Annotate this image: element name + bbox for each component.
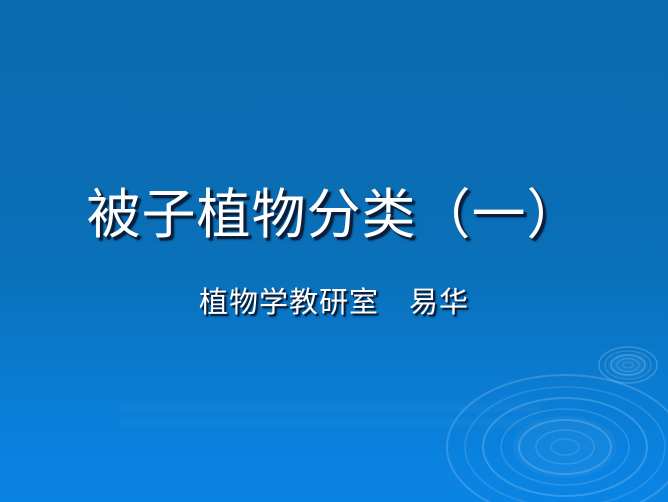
slide-title: 被子植物分类（一） [0,184,668,246]
presentation-slide: 被子植物分类（一） 植物学教研室 易华 [0,0,668,502]
slide-content: 被子植物分类（一） 植物学教研室 易华 [0,0,668,502]
slide-subtitle: 植物学教研室 易华 [0,284,668,322]
